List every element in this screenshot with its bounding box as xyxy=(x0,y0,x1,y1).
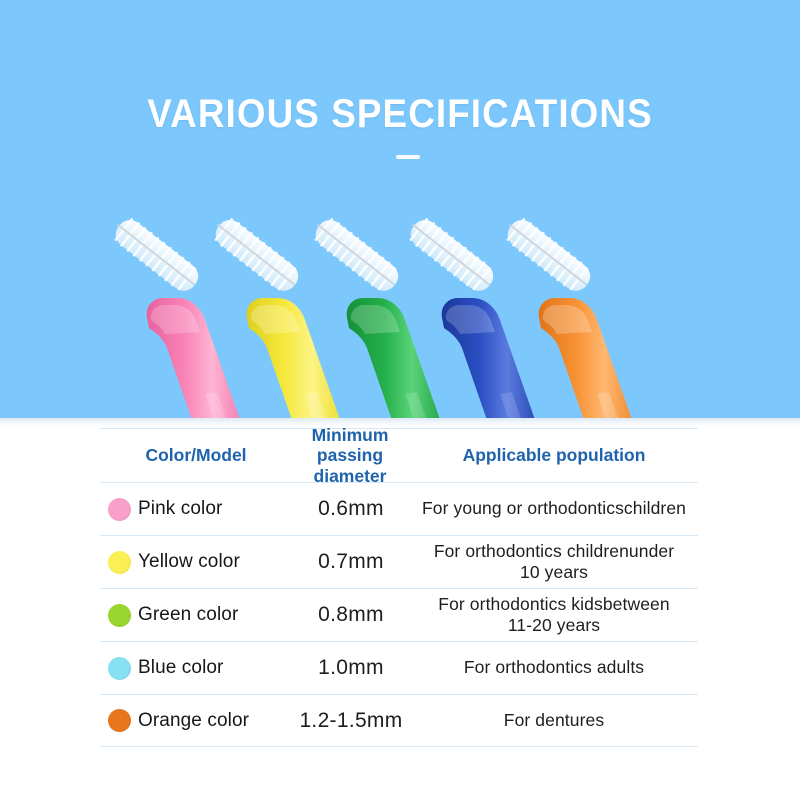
header-min-diameter-line2: diameter xyxy=(292,466,408,486)
header-color-model: Color/Model xyxy=(100,445,292,465)
color-label: Pink color xyxy=(138,498,222,520)
color-swatch-green xyxy=(108,604,131,627)
color-label: Green color xyxy=(138,604,238,626)
color-label: Orange color xyxy=(138,710,249,732)
cell-population: For orthodontics kidsbetween 11-20 years xyxy=(410,594,698,637)
cell-diameter: 0.6mm xyxy=(292,497,410,521)
table-row: Blue color 1.0mm For orthodontics adults xyxy=(100,641,698,694)
cell-population: For orthodontics adults xyxy=(410,657,698,678)
population-line-1: For dentures xyxy=(412,710,696,731)
color-swatch-orange xyxy=(108,709,131,732)
cell-diameter: 1.0mm xyxy=(292,656,410,680)
table-row: Yellow color 0.7mm For orthodontics chil… xyxy=(100,535,698,588)
population-line-2: 10 years xyxy=(412,562,696,583)
cell-color: Pink color xyxy=(100,498,292,521)
color-swatch-blue xyxy=(108,657,131,680)
header-min-diameter: Minimum passing diameter xyxy=(292,425,410,486)
population-line-1: For orthodontics childrenunder xyxy=(412,541,696,562)
cell-population: For orthodontics childrenunder 10 years xyxy=(410,541,698,584)
color-swatch-yellow xyxy=(108,551,131,574)
specification-table: Color/Model Minimum passing diameter App… xyxy=(100,428,698,747)
cell-diameter: 0.7mm xyxy=(292,550,410,574)
cell-population: For dentures xyxy=(410,710,698,731)
cell-color: Blue color xyxy=(100,657,292,680)
population-line-1: For orthodontics kidsbetween xyxy=(412,594,696,615)
header-population: Applicable population xyxy=(410,445,698,465)
color-swatch-pink xyxy=(108,498,131,521)
color-label: Yellow color xyxy=(138,551,240,573)
cell-color: Orange color xyxy=(100,709,292,732)
header-min-diameter-line1: Minimum passing xyxy=(292,425,408,466)
table-row: Orange color 1.2-1.5mm For dentures xyxy=(100,694,698,747)
page-title: VARIOUS SPECIFICATIONS xyxy=(32,92,768,137)
cell-color: Green color xyxy=(100,604,292,627)
color-label: Blue color xyxy=(138,657,224,679)
cell-color: Yellow color xyxy=(100,551,292,574)
title-divider xyxy=(396,155,420,159)
population-line-1: For orthodontics adults xyxy=(412,657,696,678)
hero-banner: VARIOUS SPECIFICATIONS xyxy=(0,0,800,418)
cell-diameter: 1.2-1.5mm xyxy=(292,709,410,733)
population-line-2: 11-20 years xyxy=(412,615,696,636)
population-line-1: For young or orthodonticschildren xyxy=(412,498,696,519)
table-header-row: Color/Model Minimum passing diameter App… xyxy=(100,428,698,482)
cell-diameter: 0.8mm xyxy=(292,603,410,627)
cell-population: For young or orthodonticschildren xyxy=(410,498,698,519)
table-row: Green color 0.8mm For orthodontics kidsb… xyxy=(100,588,698,641)
table-row: Pink color 0.6mm For young or orthodonti… xyxy=(100,482,698,535)
brush-orange xyxy=(497,222,667,418)
